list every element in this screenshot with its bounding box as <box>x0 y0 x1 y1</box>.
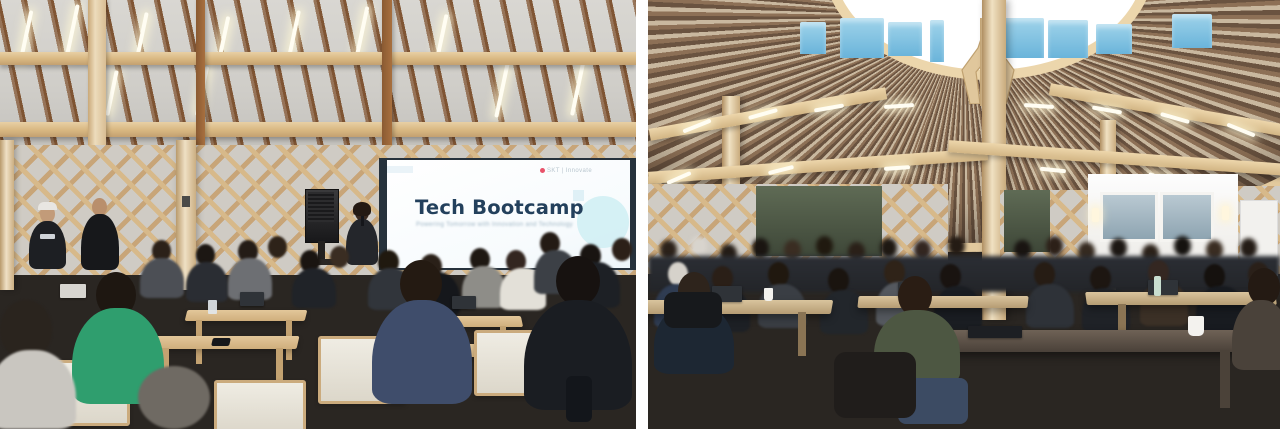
slide-subtitle: Powering Tomorrow with Innovation and Te… <box>416 221 616 228</box>
audience-head <box>948 236 965 256</box>
laptop <box>968 326 1022 338</box>
standing-person-body <box>29 221 66 269</box>
window <box>1100 192 1158 242</box>
audience-head <box>330 246 349 268</box>
laptop <box>240 292 264 306</box>
slide-corner-mark <box>387 166 413 173</box>
foreground-person-head <box>556 256 600 306</box>
audience-head <box>816 236 833 256</box>
audience-chair <box>214 380 306 429</box>
audience-head <box>1240 238 1257 258</box>
skylight-curtain <box>1048 20 1088 58</box>
standing-person-body <box>81 214 119 270</box>
table-leg <box>798 312 806 356</box>
audience-body <box>292 268 336 308</box>
audience-head <box>752 238 769 258</box>
audience-head <box>1174 236 1191 256</box>
skylight-curtain <box>840 18 884 58</box>
laptop <box>452 296 476 309</box>
skylight-curtain <box>1096 24 1132 54</box>
backpack <box>834 352 916 418</box>
right-photo[interactable] <box>648 0 1280 429</box>
water-glass <box>208 300 217 314</box>
left-roof-post <box>88 0 106 152</box>
pa-speaker-grill <box>308 192 334 222</box>
photo-strip: SKT | Innovate Tech Bootcamp Powering To… <box>0 0 1280 429</box>
audience-body <box>140 258 184 298</box>
audience-body <box>1026 284 1074 328</box>
backpack <box>664 292 722 328</box>
coffee-cup <box>1188 316 1204 336</box>
window <box>1160 192 1214 242</box>
foreground-person-body <box>372 300 472 404</box>
wall-sconce <box>1092 208 1099 222</box>
presenter-hair <box>353 202 371 216</box>
wall-sconce <box>182 196 190 207</box>
laptop <box>60 284 86 298</box>
left-photo[interactable]: SKT | Innovate Tech Bootcamp Powering To… <box>0 0 636 429</box>
audience-head <box>880 238 897 258</box>
microphone <box>361 216 364 226</box>
phone-on-table <box>211 338 231 346</box>
skylight-curtain <box>1172 14 1212 48</box>
left-support-pillar <box>0 140 14 290</box>
audience-head <box>1110 238 1127 258</box>
slide-logos: SKT | Innovate <box>540 168 592 174</box>
audience-table <box>857 296 1028 308</box>
logo-dot-icon <box>540 168 545 173</box>
foreground-person-head <box>138 366 210 429</box>
skylight-curtain <box>888 22 922 56</box>
slide-title: Tech Bootcamp <box>415 196 615 219</box>
slide-logo-text: SKT | Innovate <box>547 168 592 174</box>
water-bottle <box>1154 276 1161 296</box>
audience-head <box>1046 236 1063 256</box>
audience-head <box>268 236 287 258</box>
shirt-logo <box>40 234 55 239</box>
audience-body <box>186 262 228 302</box>
coffee-cup <box>764 288 773 301</box>
standing-person-cap <box>38 202 57 210</box>
audience-head <box>612 238 632 261</box>
laptop <box>1148 280 1178 295</box>
backpack-strap <box>566 376 592 422</box>
left-roof-post <box>382 0 392 152</box>
table-leg <box>1220 350 1230 408</box>
left-roof-post <box>196 0 205 152</box>
skylight-curtain <box>800 22 826 54</box>
audience-head <box>690 236 707 256</box>
wall-sconce <box>1222 206 1229 220</box>
